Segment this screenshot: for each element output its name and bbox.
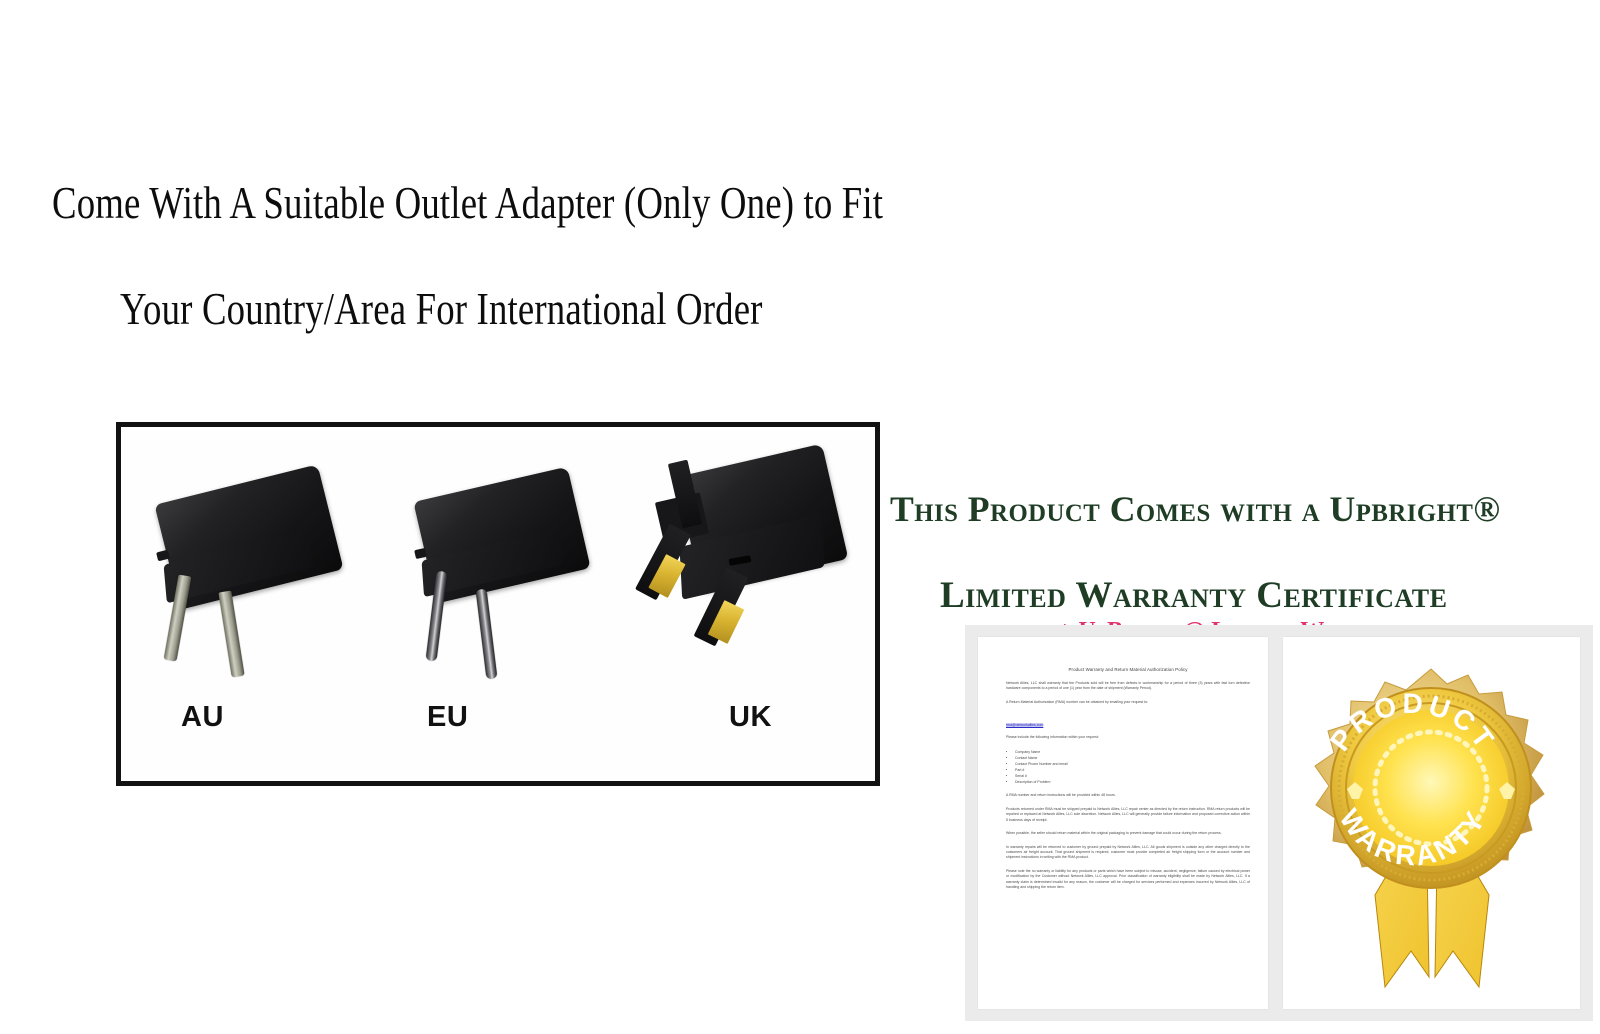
- eu-plug-latch-nub: [414, 548, 427, 559]
- promo-headline-limited-warranty-certificate: Limited Warranty Certificate: [940, 574, 1447, 617]
- document-paragraph: A RMA number and return instructions wil…: [1006, 793, 1250, 798]
- document-paragraph: When possible, the seller should return …: [1006, 831, 1250, 836]
- document-paragraph: Please include the following information…: [1006, 735, 1250, 740]
- au-plug-graphic: [153, 465, 343, 695]
- plug-options-box: AU EU: [116, 422, 880, 786]
- warranty-document-card: Product Warranty and Return Material Aut…: [978, 637, 1268, 1009]
- promo-headline-product-comes-with: This Product Comes with a Upbright®: [890, 488, 1500, 530]
- document-paragraph: Products returned under RMA must be ship…: [1006, 807, 1250, 823]
- document-paragraph: Network Allies, LLC shall warranty that …: [1006, 681, 1250, 692]
- promo-image-canvas: Come With A Suitable Outlet Adapter (Onl…: [0, 0, 1600, 1034]
- warranty-document-text: Product Warranty and Return Material Aut…: [1006, 667, 1250, 899]
- document-paragraph: A Return Material Authorization (RMA) nu…: [1006, 700, 1250, 705]
- au-plug-blade-right: [218, 591, 244, 678]
- headline-line-1: Come With A Suitable Outlet Adapter (Onl…: [52, 176, 883, 229]
- plug-option-au: AU: [121, 427, 371, 781]
- uk-plug-label: UK: [729, 701, 772, 734]
- seal-medallion: [1311, 667, 1551, 907]
- uk-plug-graphic: [645, 453, 855, 693]
- eu-plug-graphic: [411, 471, 601, 701]
- document-email-link[interactable]: rma@networkallies.com: [1006, 723, 1043, 727]
- warranty-seal-card: PRODUCT WARRANTY: [1283, 637, 1580, 1009]
- plug-option-uk: UK: [621, 427, 875, 781]
- eu-plug-pin-right: [476, 589, 498, 680]
- certificate-panel: Product Warranty and Return Material Aut…: [965, 625, 1593, 1021]
- document-bullet-list: Company Name Contact Name Contact Phone …: [1006, 749, 1250, 786]
- au-plug-label: AU: [181, 701, 224, 734]
- document-paragraph: Please note the no warranty or liability…: [1006, 869, 1250, 891]
- eu-plug-label: EU: [427, 701, 468, 734]
- headline-line-2: Your Country/Area For International Orde…: [120, 282, 763, 335]
- product-warranty-seal: PRODUCT WARRANTY: [1293, 663, 1570, 993]
- warranty-promo-section: This Product Comes with a Upbright® Limi…: [878, 470, 1600, 1030]
- document-paragraph: In warranty repairs will be returned to …: [1006, 845, 1250, 861]
- plug-option-eu: EU: [371, 427, 621, 781]
- document-title: Product Warranty and Return Material Aut…: [1006, 667, 1250, 672]
- list-item: Description of Problem: [1015, 779, 1250, 785]
